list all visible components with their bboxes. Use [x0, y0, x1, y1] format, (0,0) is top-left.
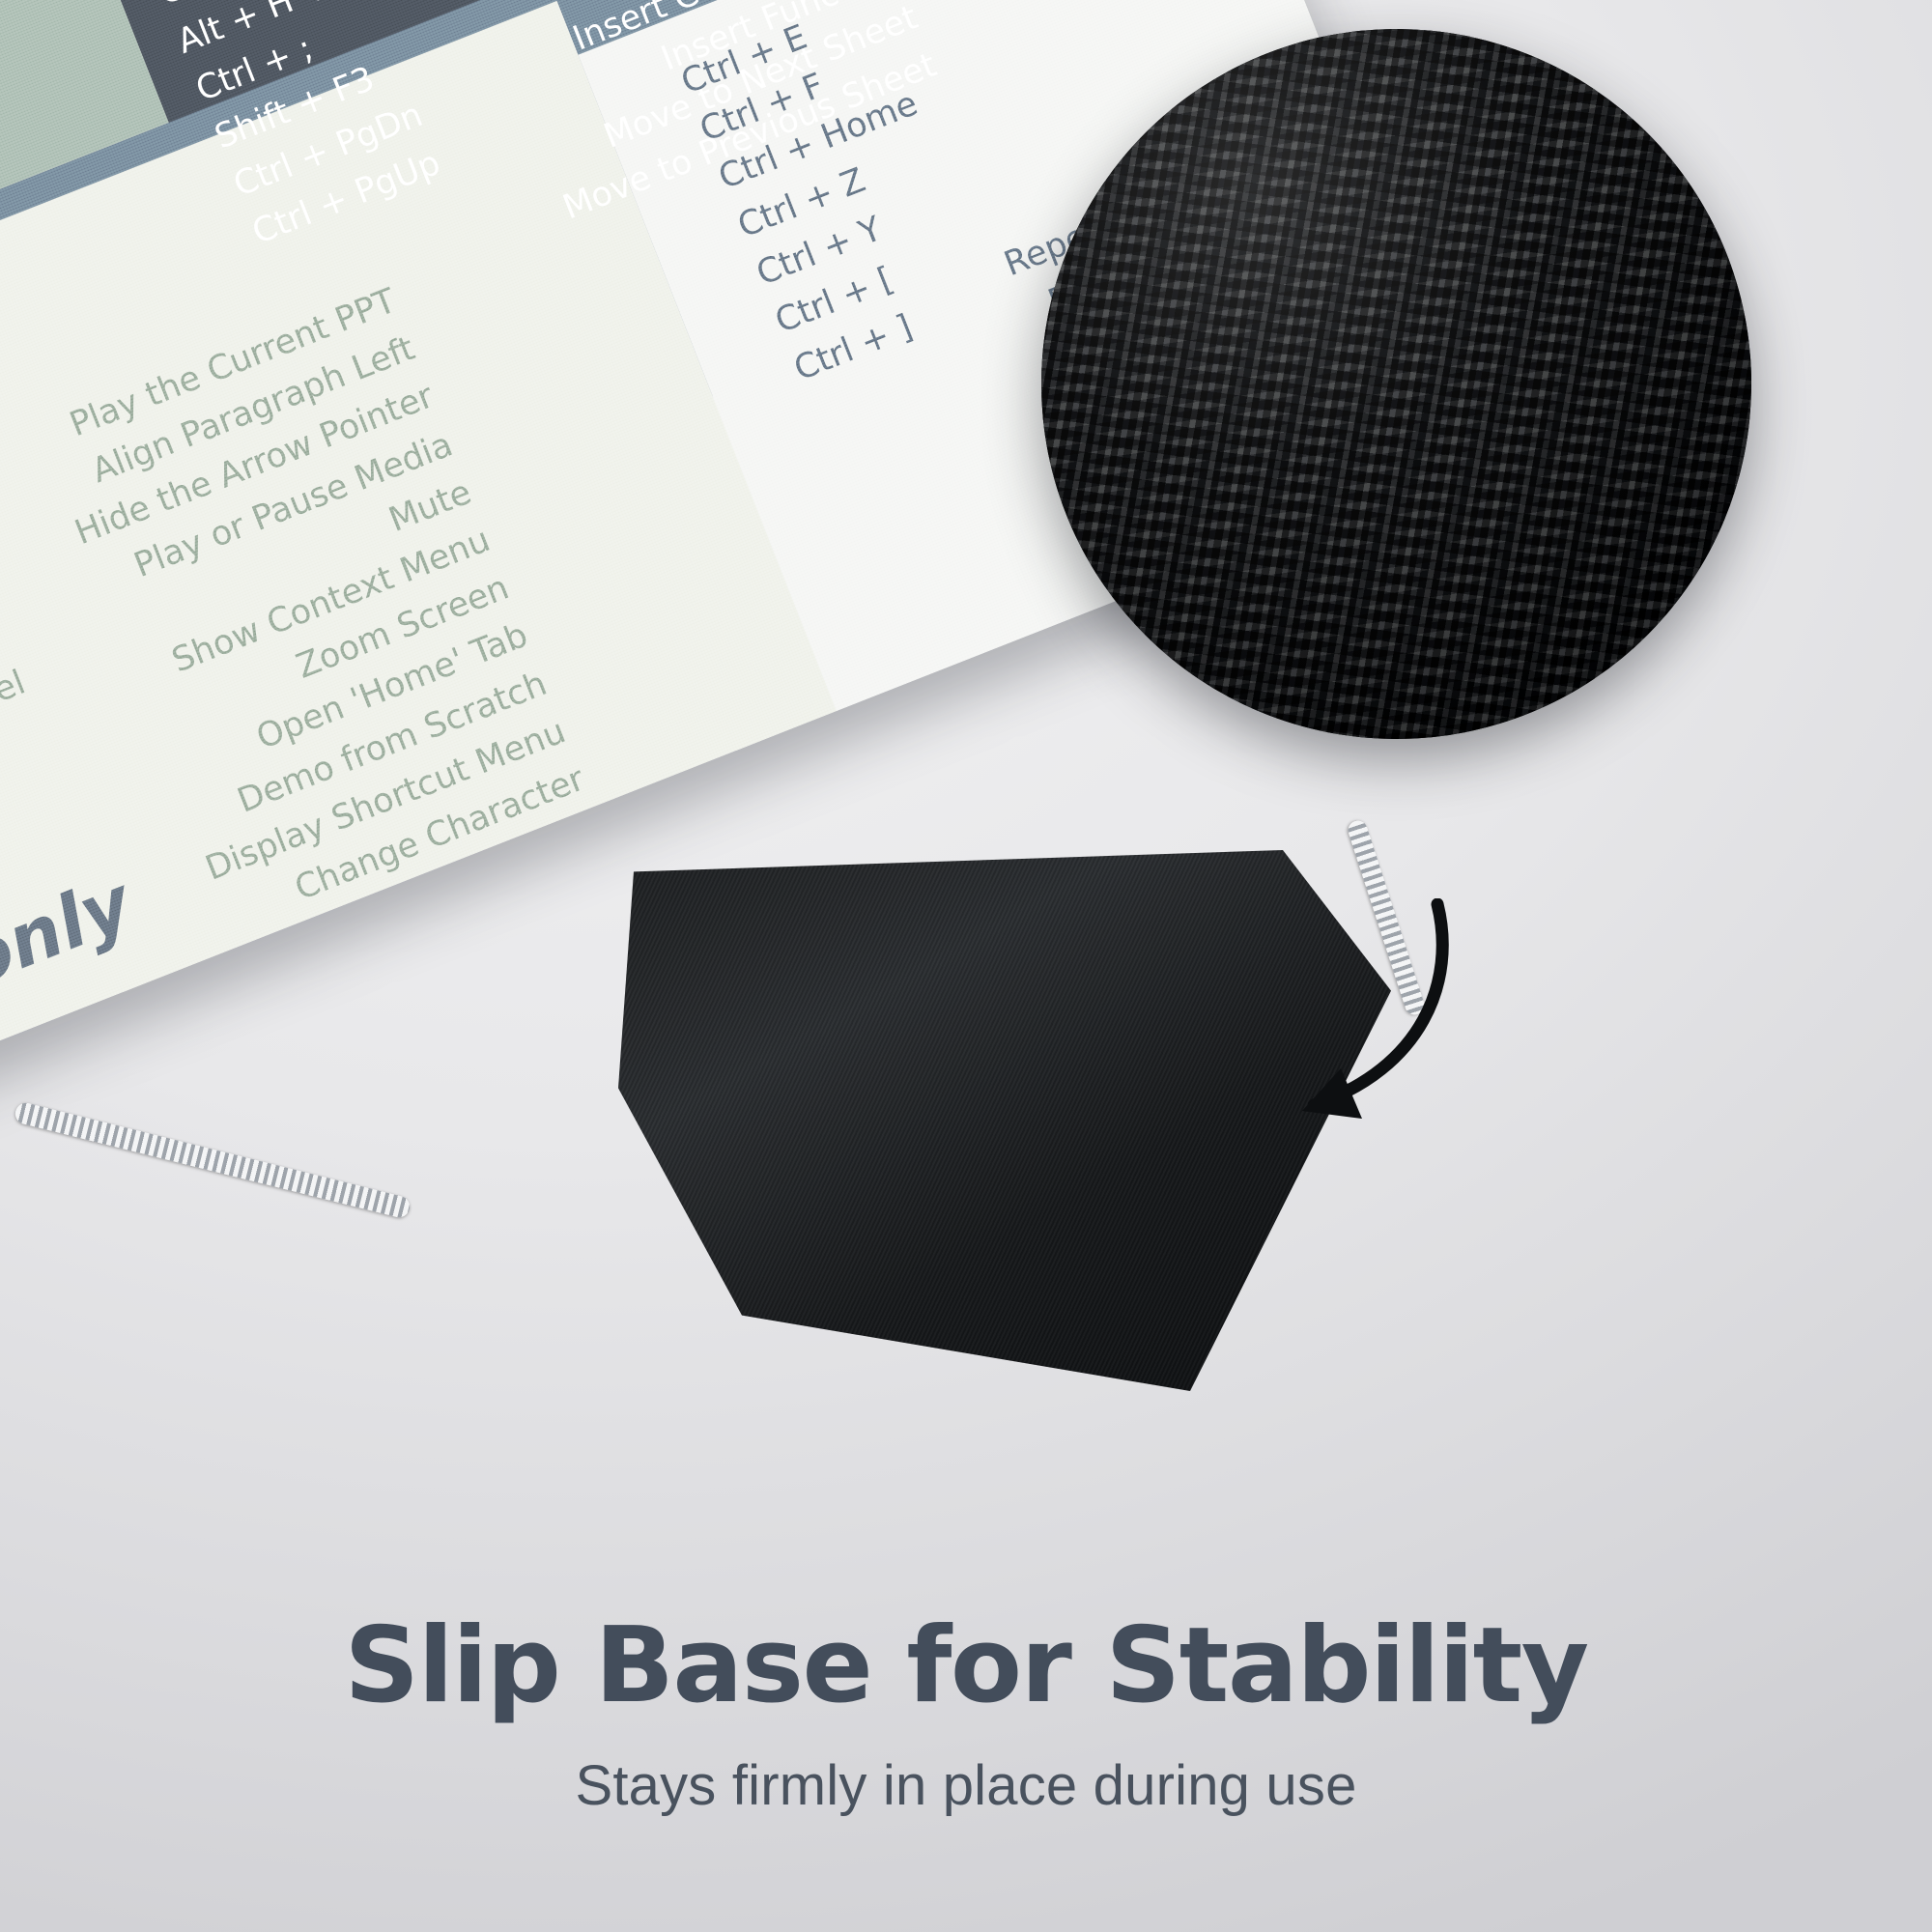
- texture-zoom-circle: [1041, 29, 1751, 739]
- page-title: Slip Base for Stability: [0, 1612, 1932, 1720]
- pointer-arrow: [1198, 898, 1488, 1159]
- page-subtitle: Stays firmly in place during use: [0, 1753, 1932, 1818]
- product-marketing-scene: CREATIVE: [0, 0, 1932, 1932]
- caption-block: Slip Base for Stability Stays firmly in …: [0, 1612, 1932, 1818]
- magnifier-sheen: [1041, 29, 1751, 739]
- mat-stitch-bottom-left: [14, 1101, 412, 1220]
